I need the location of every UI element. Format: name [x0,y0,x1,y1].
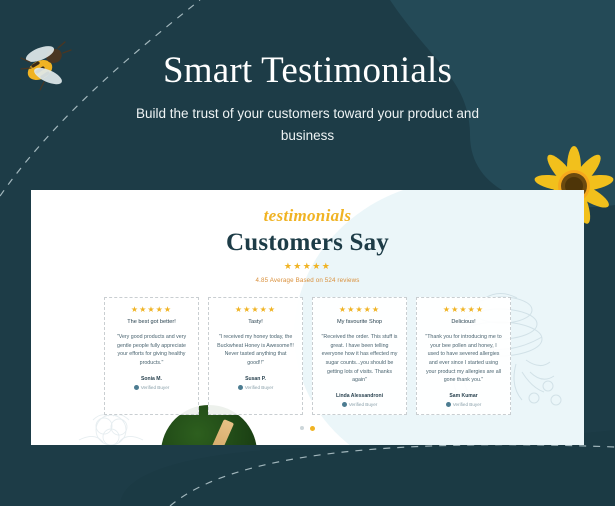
page-title: Smart Testimonials [0,0,615,89]
card-author: Susan P. [216,368,295,383]
card-quote: "Very good products and very gentle peop… [112,326,191,367]
pagination-dot[interactable] [300,426,304,430]
testimonial-card[interactable]: ★★★★★ Delicious! "Thank you for introduc… [416,297,511,415]
card-quote: "Thank you for introducing me to your be… [424,326,503,384]
testimonial-card-list: ★★★★★ The best got better! "Very good pr… [31,284,584,415]
card-stars: ★★★★★ [320,306,399,314]
card-title: My favourite Shop [320,314,399,326]
testimonial-card[interactable]: ★★★★★ My favourite Shop "Received the or… [312,297,407,415]
card-title: The best got better! [112,314,191,326]
hero-section: Smart Testimonials Build the trust of yo… [0,0,615,190]
testimonial-card[interactable]: ★★★★★ The best got better! "Very good pr… [104,297,199,415]
section-stars: ★★★★★ [31,257,584,271]
card-title: Delicious! [424,314,503,326]
testimonial-card[interactable]: ★★★★★ Tasty! "I received my honey today,… [208,297,303,415]
testimonials-panel: testimonials Customers Say ★★★★★ 4.85 Av… [31,190,584,445]
verified-buyer-badge: Verified Buyer [216,382,295,390]
verified-check-icon [134,385,139,390]
script-label: testimonials [31,190,584,226]
verified-buyer-badge: Verified Buyer [112,382,191,390]
card-stars: ★★★★★ [112,306,191,314]
verified-check-icon [238,385,243,390]
verified-label: Verified Buyer [245,385,274,390]
rating-summary: 4.85 Average Based on 524 reviews [31,271,584,284]
card-author: Linda Alessandroni [320,385,399,400]
pagination-dot-active[interactable] [310,426,315,431]
card-author: Sonia M. [112,368,191,383]
section-title: Customers Say [31,226,584,257]
card-stars: ★★★★★ [216,306,295,314]
hero-subtitle: Build the trust of your customers toward… [118,89,498,148]
verified-label: Verified Buyer [141,385,170,390]
card-author: Sam Kumar [424,385,503,400]
verified-check-icon [446,402,451,407]
verified-buyer-badge: Verified Buyer [424,399,503,407]
verified-label: Verified Buyer [349,402,378,407]
verified-buyer-badge: Verified Buyer [320,399,399,407]
card-quote: "Received the order. This stuff is great… [320,326,399,384]
verified-check-icon [342,402,347,407]
carousel-pagination[interactable] [31,415,584,431]
card-stars: ★★★★★ [424,306,503,314]
verified-label: Verified Buyer [453,402,482,407]
page-root: Smart Testimonials Build the trust of yo… [0,0,615,506]
card-title: Tasty! [216,314,295,326]
card-quote: "I received my honey today, the Buckwhea… [216,326,295,367]
